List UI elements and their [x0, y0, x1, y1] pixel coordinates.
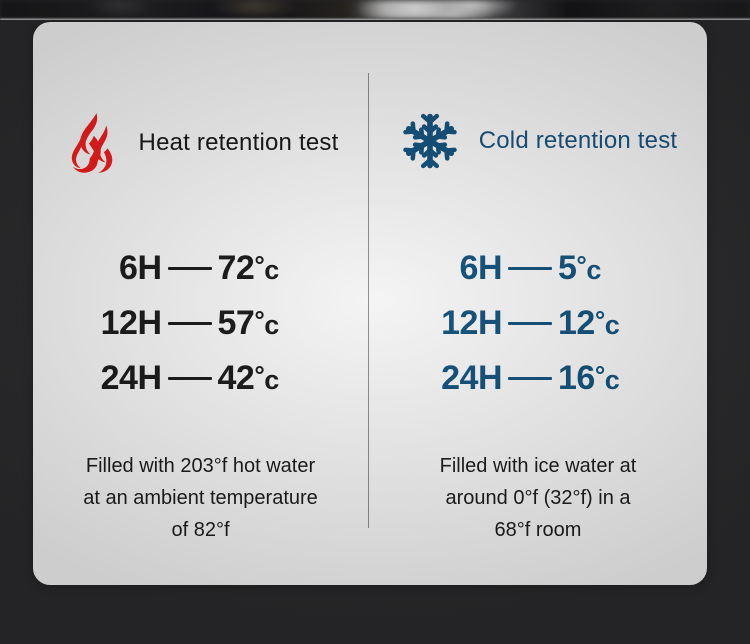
- caption-line: at an ambient temperature: [57, 482, 344, 514]
- caption-line: of 82°f: [57, 514, 344, 546]
- row-temperature: 16°c: [558, 359, 670, 398]
- row-temperature-number: 57: [218, 304, 255, 342]
- degree-symbol: °: [576, 250, 586, 280]
- unit-symbol: c: [264, 365, 279, 395]
- cold-retention-panel: Cold retention test 6H 5°c 12H 12°c 24H …: [369, 22, 707, 585]
- measurement-row: 24H 16°c: [369, 351, 707, 406]
- row-dash: [502, 267, 558, 270]
- measurement-row: 6H 72°c: [33, 241, 368, 296]
- row-temperature-number: 42: [218, 359, 255, 397]
- cold-panel-title: Cold retention test: [479, 127, 678, 155]
- caption-line: around 0°f (32°f) in a: [409, 482, 667, 514]
- measurement-row: 6H 5°c: [369, 241, 707, 296]
- row-temperature: 5°c: [558, 249, 670, 288]
- row-dash: [502, 322, 558, 325]
- measurement-row: 12H 12°c: [369, 296, 707, 351]
- screenshot-root: Heat retention test 6H 72°c 12H 57°c 24H…: [0, 0, 750, 644]
- row-dash: [162, 377, 218, 380]
- unit-symbol: c: [605, 365, 620, 395]
- row-temperature-number: 72: [218, 249, 255, 287]
- measurement-row: 24H 42°c: [33, 351, 368, 406]
- row-temperature-number: 5: [558, 249, 576, 287]
- degree-symbol: °: [595, 305, 605, 335]
- heat-panel-header: Heat retention test: [33, 110, 368, 176]
- row-dash: [162, 322, 218, 325]
- row-temperature: 72°c: [218, 249, 330, 288]
- snowflake-icon: [399, 108, 461, 174]
- heat-panel-title: Heat retention test: [139, 129, 339, 157]
- background-photo-strip: [0, 0, 750, 20]
- heat-panel-caption: Filled with 203°f hot water at an ambien…: [33, 450, 368, 546]
- unit-symbol: c: [586, 255, 601, 285]
- degree-symbol: °: [254, 360, 264, 390]
- degree-symbol: °: [595, 360, 605, 390]
- heat-retention-panel: Heat retention test 6H 72°c 12H 57°c 24H…: [33, 22, 368, 585]
- row-temperature-number: 12: [558, 304, 595, 342]
- row-dash: [162, 267, 218, 270]
- flame-icon: [63, 110, 125, 176]
- degree-symbol: °: [254, 305, 264, 335]
- row-temperature: 42°c: [218, 359, 330, 398]
- row-hours: 6H: [406, 249, 502, 288]
- row-dash: [502, 377, 558, 380]
- row-hours: 24H: [72, 359, 162, 398]
- unit-symbol: c: [264, 255, 279, 285]
- row-hours: 24H: [406, 359, 502, 398]
- unit-symbol: c: [264, 310, 279, 340]
- row-hours: 12H: [406, 304, 502, 343]
- row-temperature: 12°c: [558, 304, 670, 343]
- cold-measurement-list: 6H 5°c 12H 12°c 24H 16°c: [369, 241, 707, 406]
- caption-line: 68°f room: [409, 514, 667, 546]
- comparison-card: Heat retention test 6H 72°c 12H 57°c 24H…: [33, 22, 707, 585]
- measurement-row: 12H 57°c: [33, 296, 368, 351]
- row-temperature: 57°c: [218, 304, 330, 343]
- degree-symbol: °: [254, 250, 264, 280]
- heat-measurement-list: 6H 72°c 12H 57°c 24H 42°c: [33, 241, 368, 406]
- row-hours: 12H: [72, 304, 162, 343]
- cold-panel-header: Cold retention test: [369, 108, 707, 174]
- caption-line: Filled with ice water at: [409, 450, 667, 482]
- unit-symbol: c: [605, 310, 620, 340]
- row-hours: 6H: [72, 249, 162, 288]
- cold-panel-caption: Filled with ice water at around 0°f (32°…: [369, 450, 707, 546]
- row-temperature-number: 16: [558, 359, 595, 397]
- caption-line: Filled with 203°f hot water: [57, 450, 344, 482]
